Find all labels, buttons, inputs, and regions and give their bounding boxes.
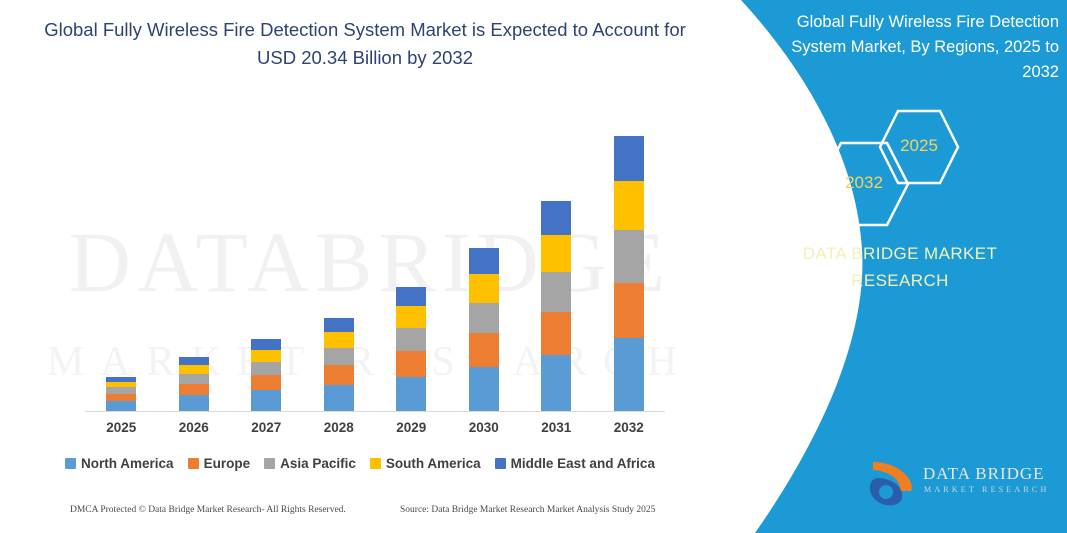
bar-2029[interactable] [396,287,426,411]
bar-segment-europe[interactable] [106,394,136,401]
bar-segment-north-america[interactable] [396,377,426,411]
infographic-page: DATABRIDGE MARKET RESEARCH Global Fully … [0,0,1067,533]
chart-legend: North AmericaEuropeAsia PacificSouth Ame… [0,456,720,471]
bar-segment-middle-east-and-africa[interactable] [614,136,644,181]
x-axis-label-2027: 2027 [236,420,296,435]
bar-segment-europe[interactable] [251,375,281,390]
bar-segment-south-america[interactable] [541,235,571,272]
bar-segment-middle-east-and-africa[interactable] [469,248,499,274]
stacked-bar-plot [85,80,665,412]
bar-segment-north-america[interactable] [614,338,644,411]
bar-segment-middle-east-and-africa[interactable] [324,318,354,332]
bar-segment-north-america[interactable] [106,401,136,411]
bar-segment-asia-pacific[interactable] [324,348,354,366]
bar-segment-south-america[interactable] [396,306,426,327]
bar-segment-europe[interactable] [396,351,426,377]
legend-swatch-icon [264,458,275,469]
bar-segment-north-america[interactable] [251,390,281,411]
footer: DMCA Protected © Data Bridge Market Rese… [0,505,700,525]
x-axis-label-2026: 2026 [164,420,224,435]
bar-segment-europe[interactable] [179,384,209,395]
bar-segment-north-america[interactable] [541,355,571,411]
bar-2028[interactable] [324,318,354,411]
x-axis-line [85,411,665,412]
bar-segment-south-america[interactable] [469,274,499,303]
logo-text-sub: MARKET RESEARCH [924,485,1049,494]
hexagon-2032: 2032 [817,140,911,228]
bar-2027[interactable] [251,339,281,411]
legend-swatch-icon [65,458,76,469]
x-axis-label-2031: 2031 [526,420,586,435]
legend-label: Europe [204,456,251,471]
footer-source: Source: Data Bridge Market Research Mark… [400,505,655,515]
bar-segment-middle-east-and-africa[interactable] [179,357,209,365]
bar-2025[interactable] [106,377,136,411]
bar-segment-north-america[interactable] [469,367,499,411]
x-axis-label-2029: 2029 [381,420,441,435]
bar-segment-asia-pacific[interactable] [179,374,209,384]
legend-label: South America [386,456,481,471]
legend-item-europe[interactable]: Europe [188,456,251,471]
x-axis-label-2032: 2032 [599,420,659,435]
right-blue-panel: Global Fully Wireless Fire Detection Sys… [677,0,1067,533]
bar-segment-north-america[interactable] [324,385,354,411]
chart-title: Global Fully Wireless Fire Detection Sys… [40,16,690,72]
legend-label: North America [81,456,174,471]
x-axis-label-2025: 2025 [91,420,151,435]
legend-swatch-icon [188,458,199,469]
logo-text-main: DATA BRIDGE [923,464,1045,484]
bar-segment-south-america[interactable] [324,332,354,348]
legend-item-north-america[interactable]: North America [65,456,174,471]
bar-2030[interactable] [469,248,499,411]
bar-2031[interactable] [541,201,571,411]
bar-segment-south-america[interactable] [179,365,209,374]
bar-segment-north-america[interactable] [179,395,209,411]
bar-segment-asia-pacific[interactable] [469,303,499,334]
bar-2026[interactable] [179,357,209,411]
bar-segment-asia-pacific[interactable] [541,272,571,312]
bar-segment-europe[interactable] [614,283,644,339]
x-axis-label-2028: 2028 [309,420,369,435]
legend-item-south-america[interactable]: South America [370,456,481,471]
bar-segment-south-america[interactable] [614,181,644,230]
bar-segment-south-america[interactable] [251,350,281,362]
panel-title: Global Fully Wireless Fire Detection Sys… [759,10,1059,85]
bar-segment-middle-east-and-africa[interactable] [541,201,571,235]
bar-segment-asia-pacific[interactable] [251,362,281,376]
legend-item-asia-pacific[interactable]: Asia Pacific [264,456,356,471]
bar-segment-asia-pacific[interactable] [614,230,644,282]
footer-copyright: DMCA Protected © Data Bridge Market Rese… [70,505,346,515]
bar-segment-asia-pacific[interactable] [396,328,426,352]
legend-item-middle-east-and-africa[interactable]: Middle East and Africa [495,456,655,471]
bar-segment-europe[interactable] [469,333,499,367]
bar-2032[interactable] [614,136,644,411]
bar-segment-europe[interactable] [541,312,571,355]
panel-brand-text: DATA BRIDGE MARKET RESEARCH [775,240,1025,294]
bar-segment-middle-east-and-africa[interactable] [396,287,426,306]
logo-mark-icon [867,458,919,508]
x-axis-label-2030: 2030 [454,420,514,435]
bar-segment-europe[interactable] [324,365,354,384]
legend-swatch-icon [495,458,506,469]
legend-label: Middle East and Africa [511,456,655,471]
x-axis-labels: 20252026202720282029203020312032 [85,420,665,444]
hexagon-2032-label: 2032 [817,173,911,193]
legend-label: Asia Pacific [280,456,356,471]
chart-area: DATABRIDGE MARKET RESEARCH Global Fully … [0,0,720,533]
data-bridge-logo: DATA BRIDGE MARKET RESEARCH [867,458,1052,510]
legend-swatch-icon [370,458,381,469]
bar-segment-middle-east-and-africa[interactable] [251,339,281,350]
